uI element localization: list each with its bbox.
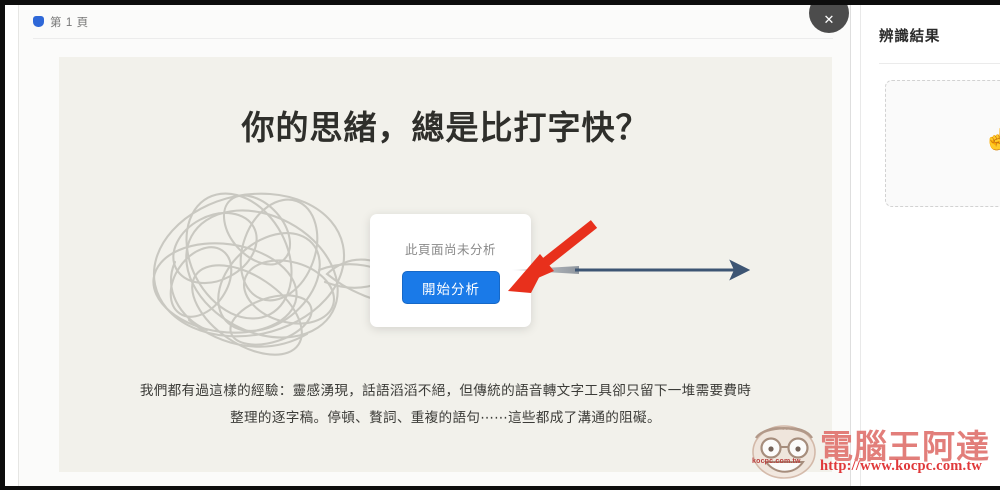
page-indicator-bar: 第 1 頁 [33, 5, 833, 39]
analyze-popup-card: 此頁面尚未分析 開始分析 [370, 214, 531, 327]
close-icon: ✕ [824, 13, 835, 26]
recognition-result-panel: 辨識結果 ☝️ [860, 5, 1000, 486]
slide-body-text: 我們都有過這樣的經驗：靈感湧現，話語滔滔不絕，但傳統的語音轉文字工具卻只留下一堆… [137, 377, 754, 431]
result-panel-divider [879, 63, 1000, 64]
bookmark-icon [33, 16, 44, 27]
document-viewer: 第 1 頁 ✕ 你的思緒，總是比打字快？ [5, 5, 851, 486]
result-dropzone[interactable]: ☝️ [885, 80, 1000, 207]
start-analysis-button[interactable]: 開始分析 [402, 271, 500, 304]
window-frame-bottom [0, 486, 1000, 490]
result-panel-title: 辨識結果 [879, 25, 940, 46]
pointing-up-hand-icon: ☝️ [984, 129, 1000, 150]
watermark-tag: kocpc.com.tw [752, 458, 801, 465]
analyze-status-text: 此頁面尚未分析 [370, 239, 531, 258]
slide-title: 你的思緒，總是比打字快？ [59, 101, 832, 149]
screenshot-root: 第 1 頁 ✕ 你的思緒，總是比打字快？ [0, 0, 1000, 490]
watermark-url: http://www.kocpc.com.tw [820, 458, 982, 475]
site-watermark: kocpc.com.tw 電腦王阿達 http://www.kocpc.com.… [748, 418, 1000, 484]
page-indicator-label: 第 1 頁 [50, 14, 89, 30]
viewer-inner-panel: 第 1 頁 ✕ 你的思緒，總是比打字快？ [18, 5, 851, 486]
mascot-face-logo [748, 422, 820, 480]
